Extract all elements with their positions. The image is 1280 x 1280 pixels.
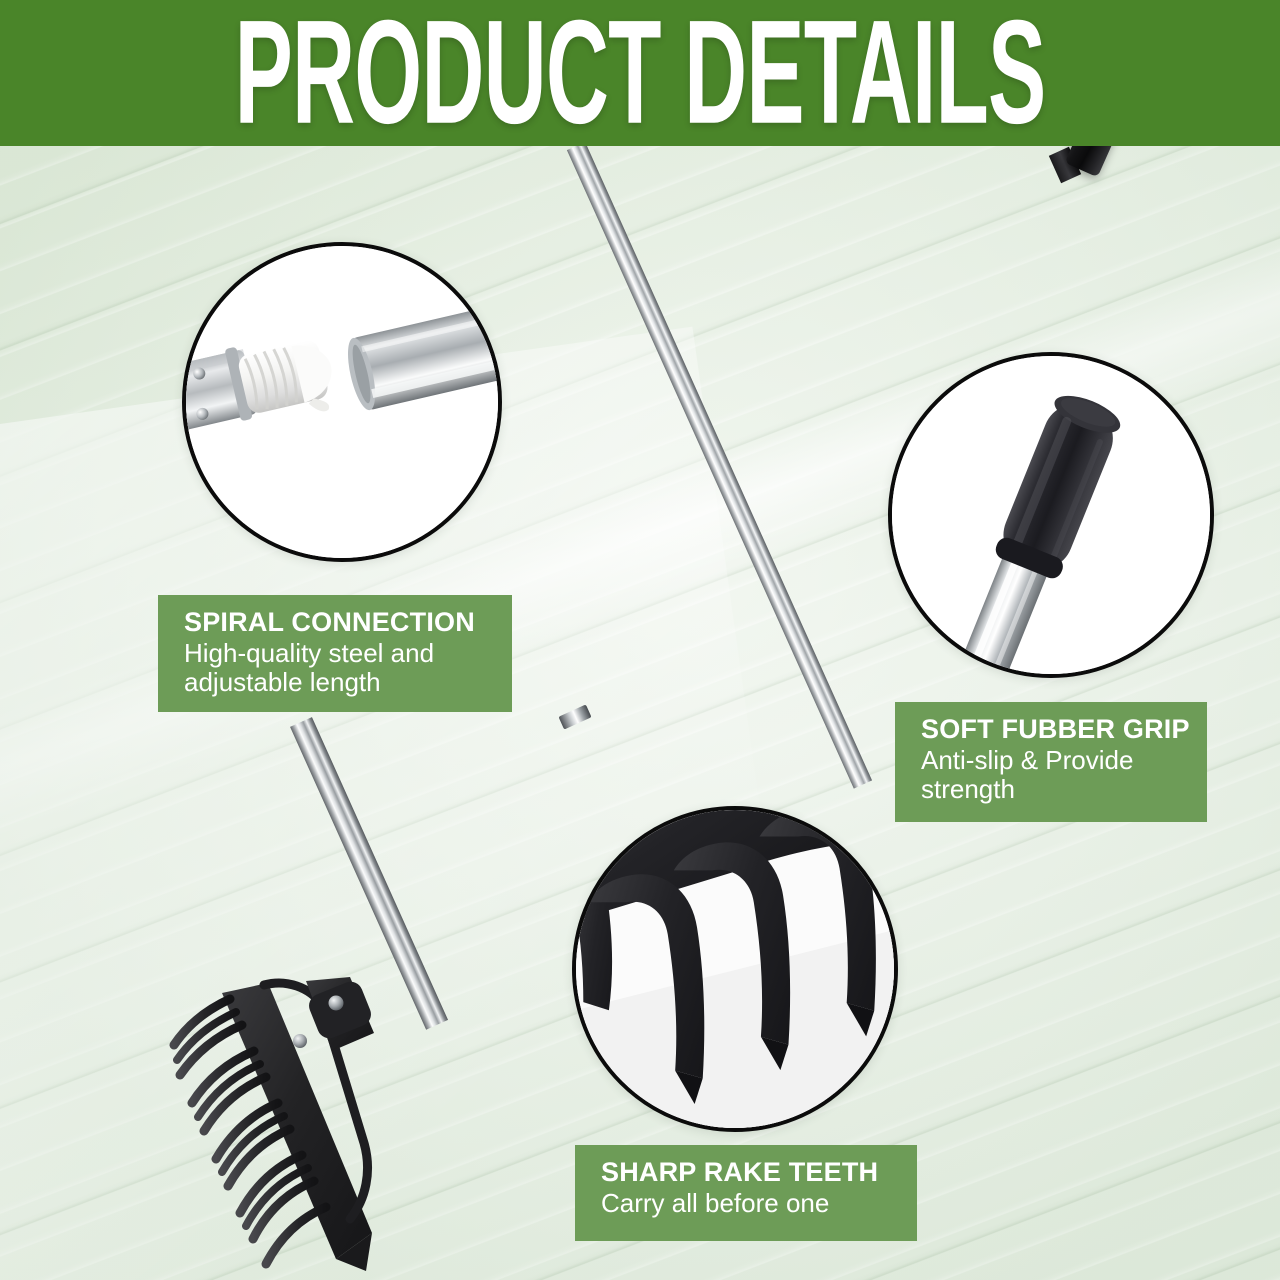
callout-subtitle-sharp-rake-teeth: Carry all before one xyxy=(601,1189,901,1218)
page-title: PRODUCT DETAILS xyxy=(102,0,1177,146)
product-details-infographic: PRODUCT DETAILS xyxy=(0,0,1280,1280)
callout-label-spiral-connection: SPIRAL CONNECTION High-quality steel and… xyxy=(158,595,512,712)
header-banner: PRODUCT DETAILS xyxy=(0,0,1280,146)
callout-title-sharp-rake-teeth: SHARP RAKE TEETH xyxy=(601,1157,901,1187)
callout-title-spiral-connection: SPIRAL CONNECTION xyxy=(184,607,496,637)
callout-circle-sharp-rake-teeth xyxy=(572,806,898,1132)
callout-subtitle-soft-rubber-grip: Anti-slip & Provide strength xyxy=(921,746,1191,804)
callout-circle-spiral-connection xyxy=(182,242,502,562)
callout-label-soft-rubber-grip: SOFT FUBBER GRIP Anti-slip & Provide str… xyxy=(895,702,1207,822)
callout-circle-soft-rubber-grip xyxy=(888,352,1214,678)
callout-label-sharp-rake-teeth: SHARP RAKE TEETH Carry all before one xyxy=(575,1145,917,1241)
callout-subtitle-spiral-connection: High-quality steel and adjustable length xyxy=(184,639,496,697)
callout-title-soft-rubber-grip: SOFT FUBBER GRIP xyxy=(921,714,1191,744)
